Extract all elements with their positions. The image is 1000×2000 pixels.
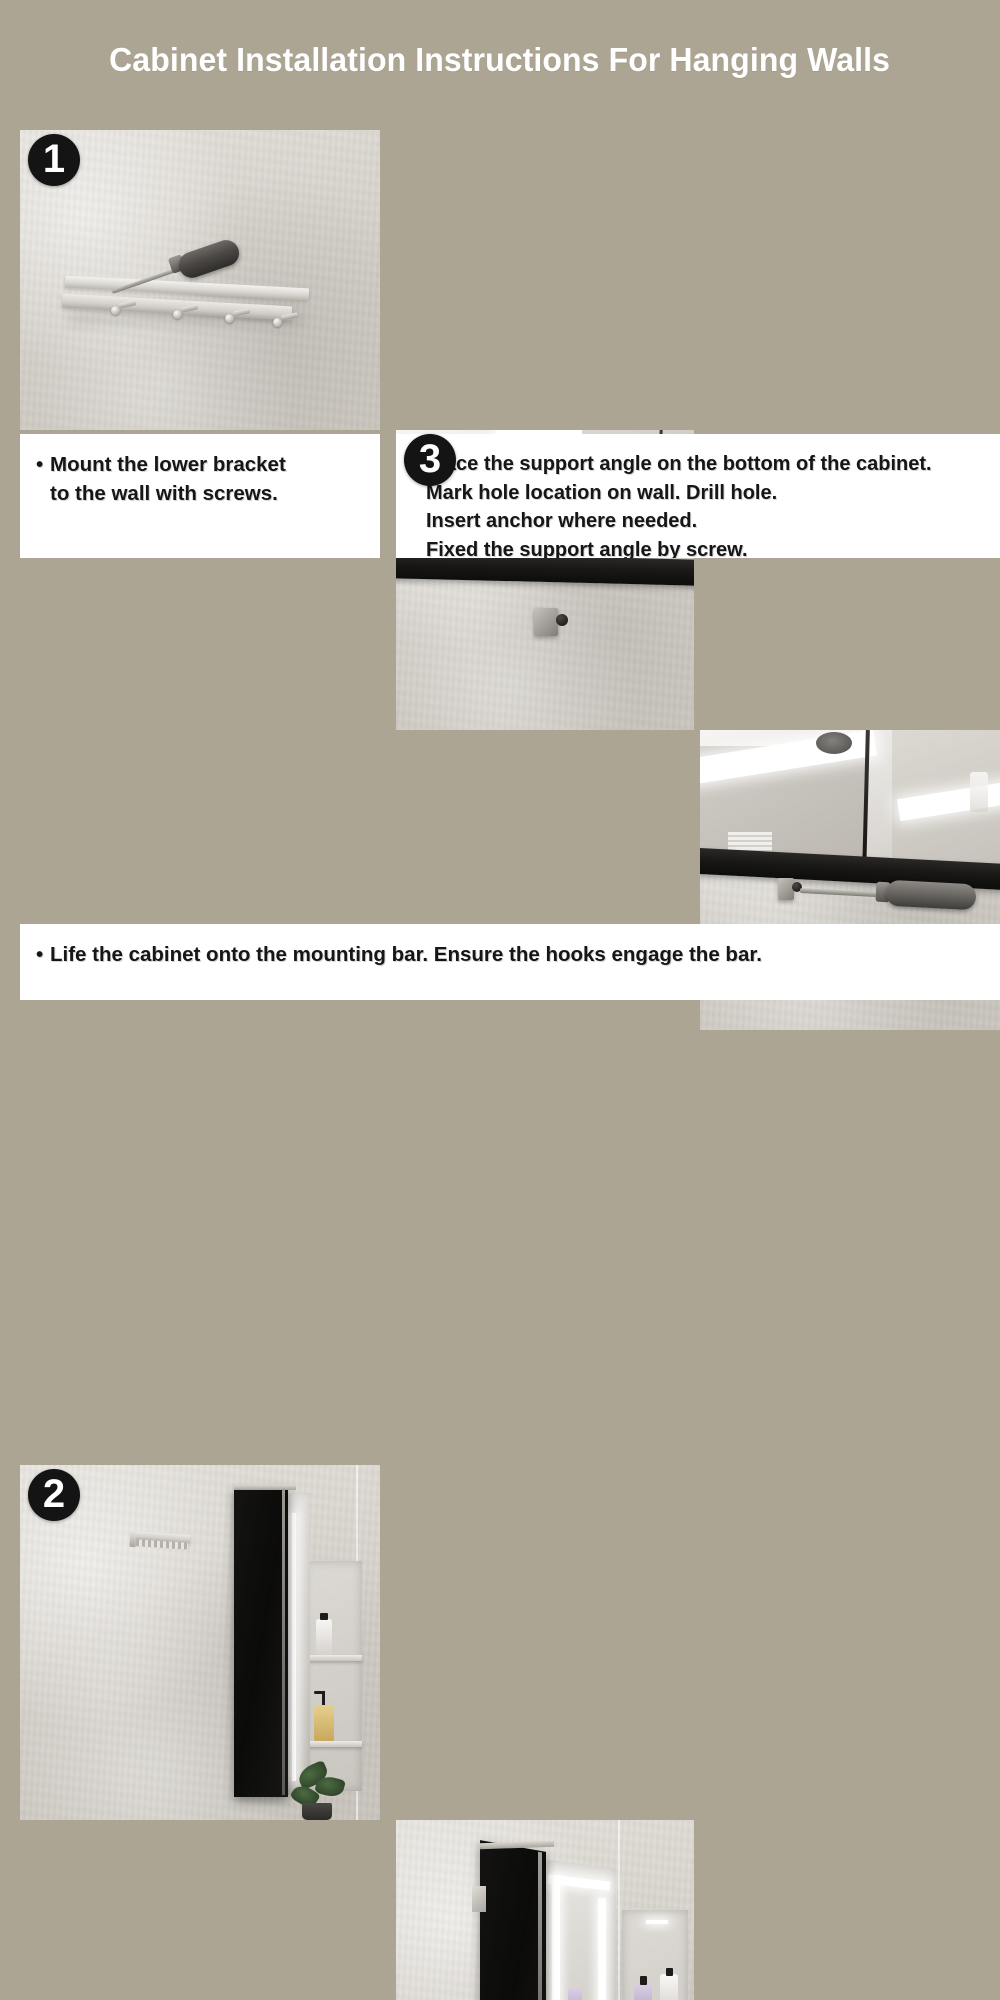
bottle-cap-purple-2b <box>640 1976 647 1985</box>
bullet-icon-step1: • <box>36 450 50 479</box>
step-2-caption: •Life the cabinet onto the mounting bar.… <box>20 924 1000 1000</box>
bottle-reflection-3b <box>970 772 988 812</box>
bottle-amber-2a <box>314 1705 334 1741</box>
screwdriver-handle-3b <box>885 880 976 911</box>
niche-shelf-lower-2a <box>304 1741 362 1747</box>
step-3-caption-line-2: Mark hole location on wall. Drill hole. <box>412 479 986 508</box>
cabinet-door-2a <box>234 1487 288 1797</box>
step-3-caption-text-1: Place the support angle on the bottom of… <box>426 453 932 475</box>
step-2-caption-line-1: •Life the cabinet onto the mounting bar.… <box>36 940 986 969</box>
step-badge-3: 3 <box>404 434 456 486</box>
step-1-caption-line-1: •Mount the lower bracket <box>36 450 366 479</box>
step-badge-1-number: 1 <box>43 139 65 179</box>
wall-niche-2a <box>304 1561 362 1791</box>
bottle-cap-2a <box>320 1613 328 1620</box>
wall-tile-seam-2b <box>618 1820 620 2000</box>
instruction-sheet: Cabinet Installation Instructions For Ha… <box>0 0 1000 1000</box>
bottle-purple-2b <box>634 1984 652 2000</box>
cabinet-door-inner-line-2b <box>538 1852 542 2000</box>
bottle-cap-clear-2b <box>666 1968 673 1976</box>
bottle-clear-2a <box>316 1619 332 1655</box>
support-angle-bracket-3a <box>534 608 558 636</box>
step-badge-3-number: 3 <box>419 439 441 479</box>
step-badge-1: 1 <box>28 134 80 186</box>
step-badge-2: 2 <box>28 1469 80 1521</box>
step-3-caption: •Place the support angle on the bottom o… <box>396 434 1000 558</box>
plant-pot-2a <box>302 1803 332 1820</box>
cabinet-door-inner-line-2a <box>282 1489 285 1795</box>
step-badge-2-number: 2 <box>43 1474 65 1514</box>
step-1-photo: 1 <box>20 130 380 430</box>
step-3-caption-line-3: Insert anchor where needed. <box>412 507 986 536</box>
bottle-clear-2b <box>660 1974 678 2000</box>
step-3-caption-line-4: Fixed the support angle by screw. <box>412 536 986 558</box>
niche-light-2b <box>646 1920 668 1924</box>
page-title: Cabinet Installation Instructions For Ha… <box>110 41 891 79</box>
led-frame-right-2b <box>598 1898 606 2000</box>
step-1-caption-text-1: Mount the lower bracket <box>50 453 286 476</box>
led-frame-left-2b <box>552 1880 560 2000</box>
wall-hook-2b <box>472 1886 486 1912</box>
cabinet-door-top-edge-2a <box>234 1485 296 1490</box>
led-strip-2a <box>292 1513 296 1781</box>
page-title-bar: Cabinet Installation Instructions For Ha… <box>0 0 1000 120</box>
step-2-photo-b <box>396 1820 694 2000</box>
pump-arm-2a <box>314 1691 325 1694</box>
step-1-caption-line-2: to the wall with screws. <box>36 479 366 508</box>
step-3-caption-line-1: •Place the support angle on the bottom o… <box>412 450 986 479</box>
step-1-caption: •Mount the lower bracket to the wall wit… <box>20 434 380 558</box>
cabinet-bottle-2b <box>568 1988 582 2000</box>
cabinet-door-2b <box>480 1840 546 2000</box>
showerhead-reflection-3b <box>816 732 852 754</box>
step-2-photo-a: 2 <box>20 1465 380 1820</box>
mounting-bar-endcap-2a <box>129 1531 136 1547</box>
niche-shelf-upper-2a <box>304 1655 362 1661</box>
step-2-caption-text-1: Life the cabinet onto the mounting bar. … <box>50 943 762 966</box>
support-angle-screw-3a <box>556 614 568 626</box>
bullet-icon-step2: • <box>36 940 50 969</box>
